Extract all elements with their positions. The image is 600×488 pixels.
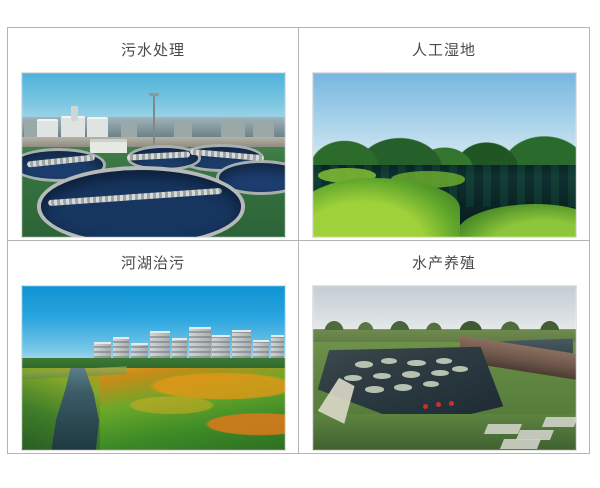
distant-building bbox=[24, 121, 37, 137]
photo-container-constructed-wetland bbox=[299, 72, 589, 240]
grid-cell-river-lake-treatment[interactable]: 河湖治污 bbox=[8, 241, 299, 454]
concrete-path-slab bbox=[500, 439, 541, 449]
orange-wildflower-patches bbox=[79, 371, 284, 446]
caption-constructed-wetland: 人工湿地 bbox=[412, 28, 476, 72]
caption-river-lake-treatment: 河湖治污 bbox=[121, 241, 185, 285]
storage-tank bbox=[37, 119, 58, 139]
distant-building bbox=[121, 122, 137, 137]
aerator-foam bbox=[394, 384, 412, 391]
distant-building bbox=[221, 119, 245, 137]
tree-line-region bbox=[313, 116, 576, 172]
river-lake-pollution-control-photo[interactable] bbox=[21, 285, 286, 451]
concrete-path-slab bbox=[484, 424, 522, 434]
plant-control-building bbox=[90, 139, 127, 153]
distant-building bbox=[253, 122, 274, 137]
wastewater-treatment-plant-photo[interactable] bbox=[21, 72, 286, 238]
caption-wastewater-treatment: 污水处理 bbox=[121, 28, 185, 72]
aerator-foam bbox=[423, 381, 439, 387]
pond-aerator-float bbox=[423, 404, 428, 409]
chimney-tower bbox=[71, 106, 78, 121]
aerator-foam bbox=[436, 358, 452, 364]
image-grid-table: 污水处理 bbox=[7, 27, 590, 454]
aerator-foam bbox=[365, 386, 383, 393]
grid-cell-wastewater-treatment[interactable]: 污水处理 bbox=[8, 28, 299, 241]
distant-tree-line bbox=[313, 314, 576, 332]
grid-cell-constructed-wetland[interactable]: 人工湿地 bbox=[299, 28, 590, 241]
aerator-foam bbox=[381, 358, 397, 364]
photo-container-aquaculture bbox=[299, 285, 589, 453]
constructed-wetland-photo[interactable] bbox=[312, 72, 577, 238]
caption-aquaculture: 水产养殖 bbox=[412, 241, 476, 285]
grid-cell-aquaculture[interactable]: 水产养殖 bbox=[299, 241, 590, 454]
aerator-foam bbox=[402, 371, 420, 378]
photo-container-wastewater-treatment bbox=[8, 72, 298, 240]
concrete-path-slab bbox=[542, 417, 577, 427]
distant-building bbox=[174, 121, 192, 137]
aquaculture-pond-photo[interactable] bbox=[312, 285, 577, 451]
aerator-foam bbox=[355, 361, 373, 368]
photo-container-river-lake-treatment bbox=[8, 285, 298, 453]
storage-tank bbox=[87, 117, 108, 139]
pole-lamp bbox=[149, 93, 159, 96]
page-root: 污水处理 bbox=[0, 0, 600, 488]
light-pole bbox=[153, 94, 155, 143]
aerator-foam bbox=[452, 366, 468, 372]
